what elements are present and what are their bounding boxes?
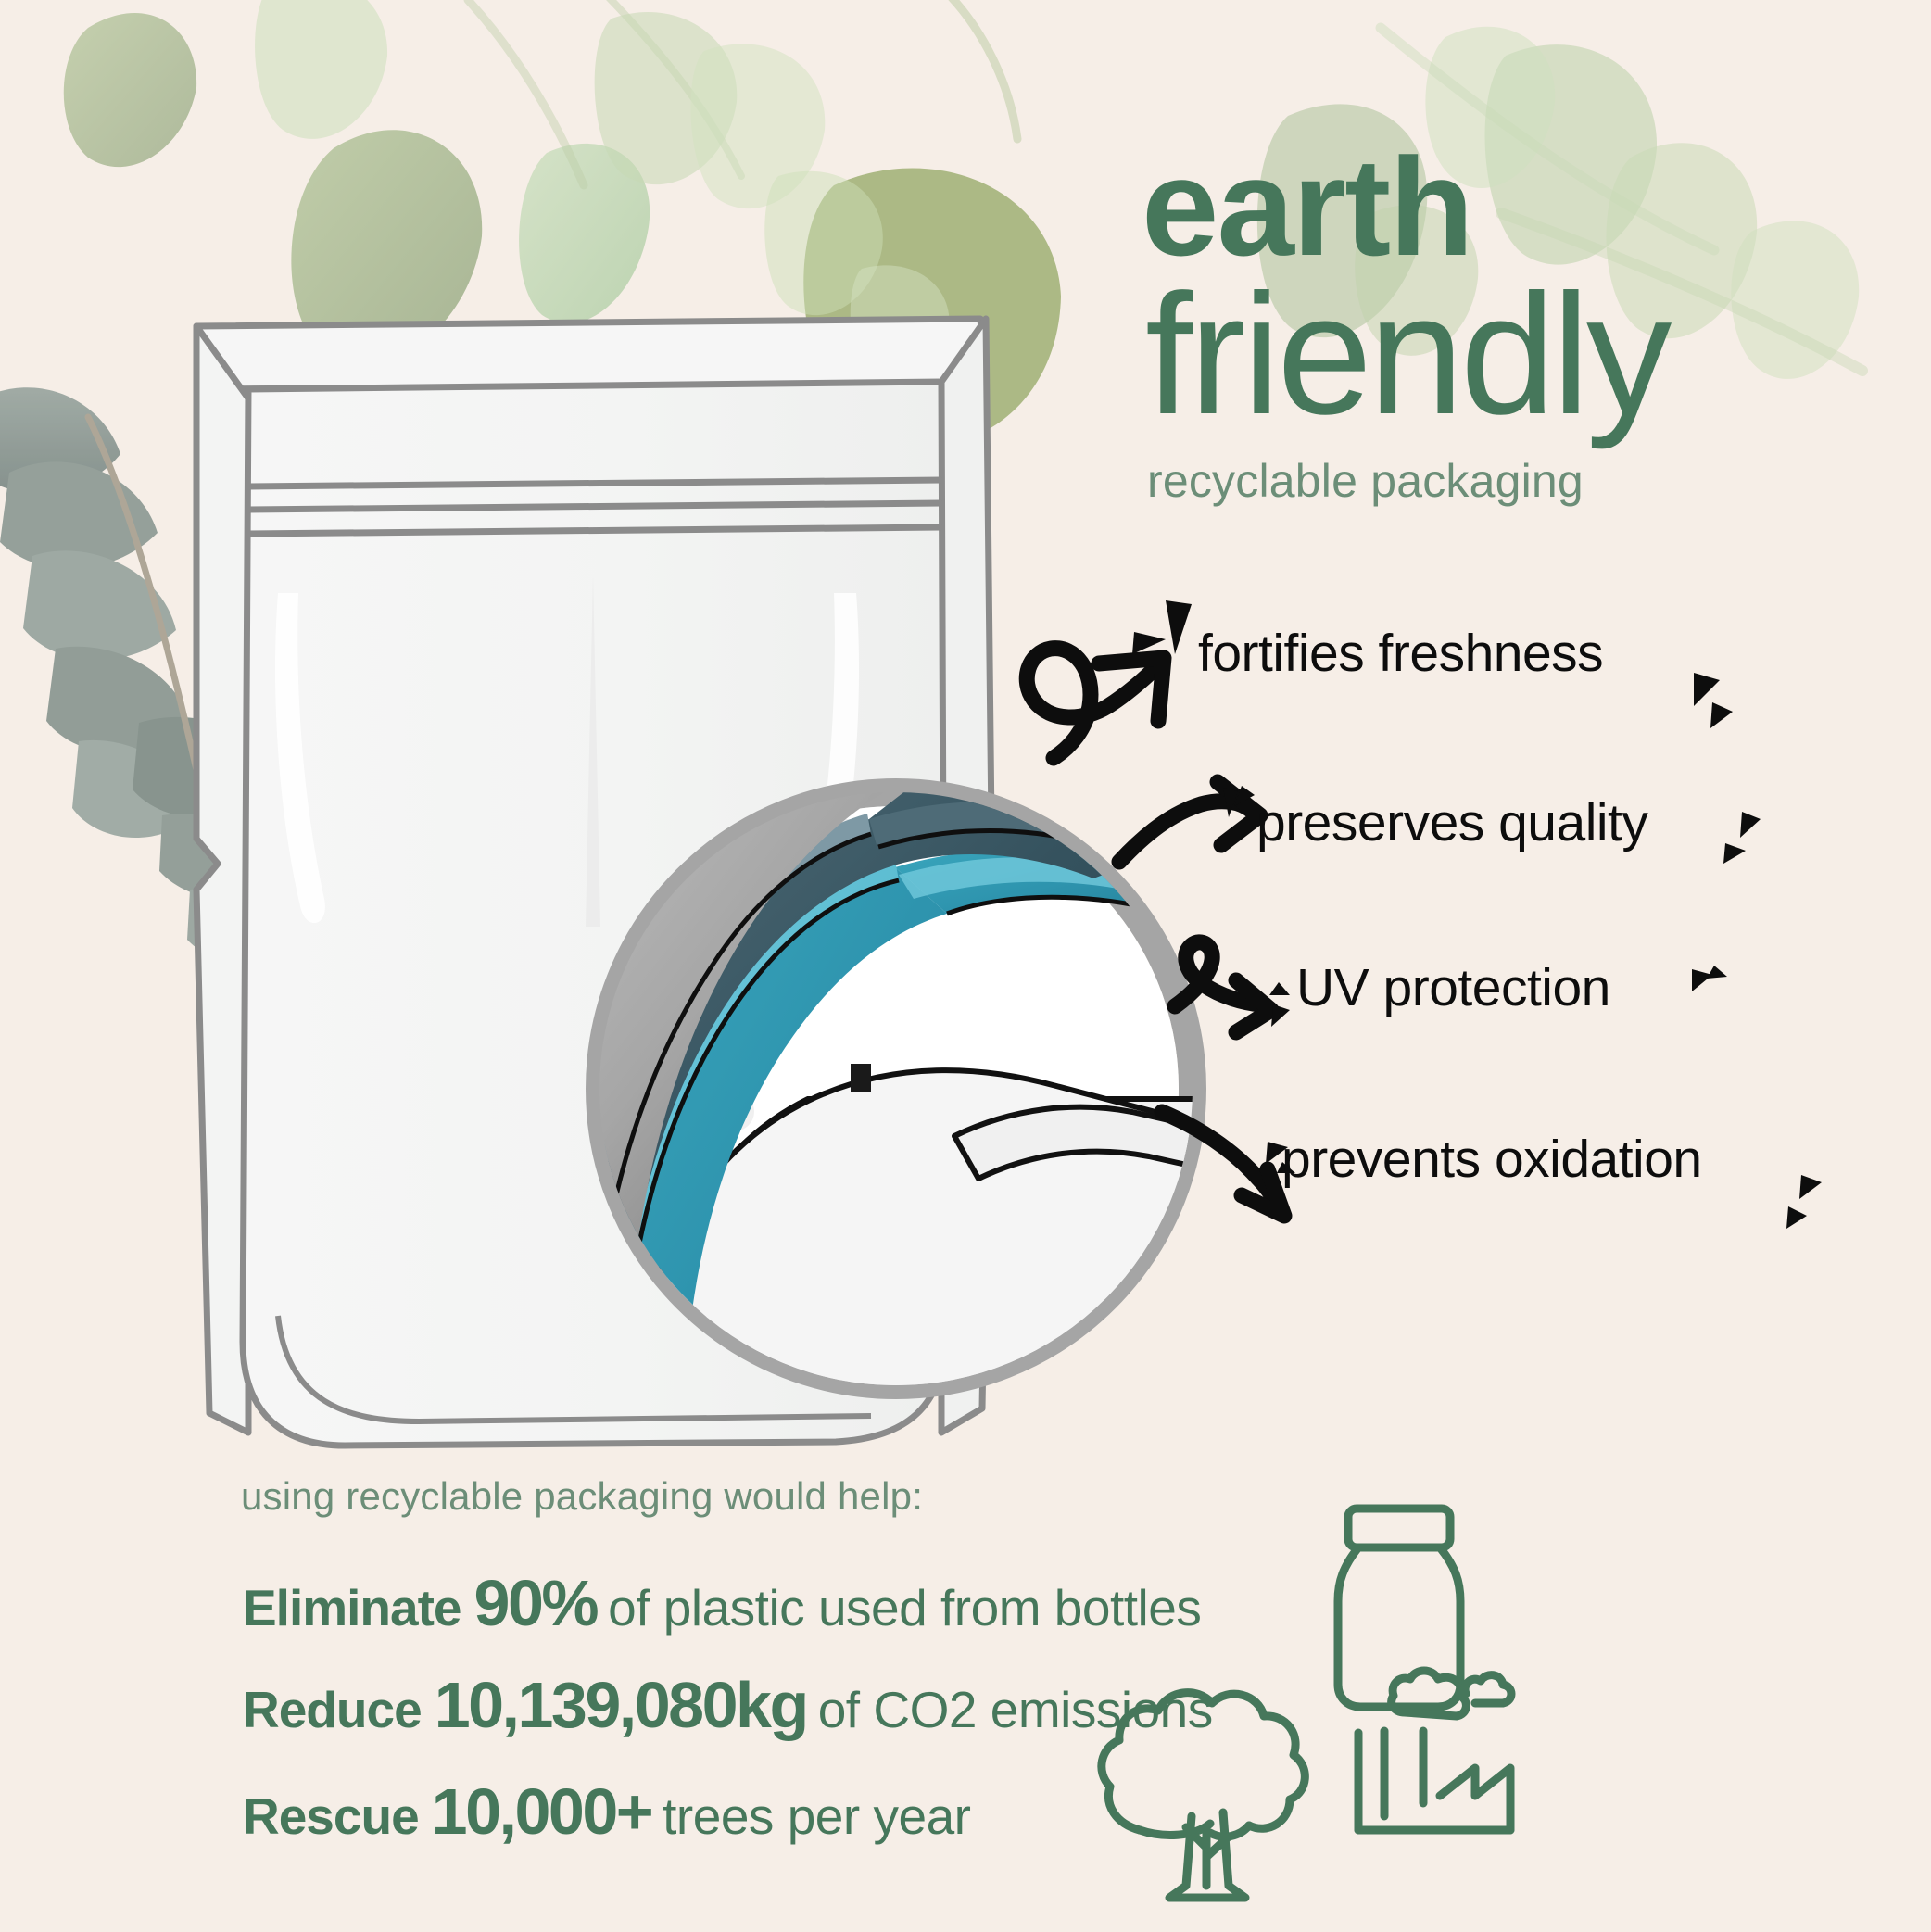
tree-icon bbox=[1102, 1693, 1305, 1898]
stat-icons bbox=[0, 0, 1931, 1932]
infographic-canvas: earth friendly recyclable packaging fort… bbox=[0, 0, 1931, 1932]
factory-icon bbox=[1358, 1671, 1511, 1830]
